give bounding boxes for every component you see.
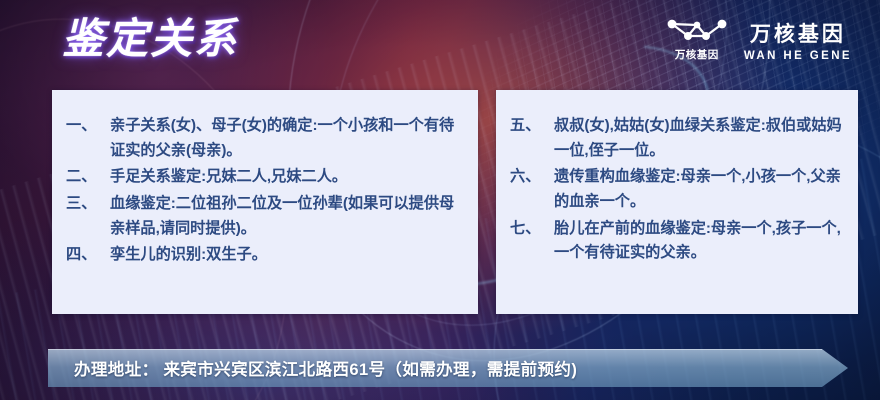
molecule-node-icon [664,18,730,44]
list-item-text: 孪生儿的识别:双生子。 [110,243,464,268]
brand-mark-label: 万核基因 [675,47,719,62]
list-item-number: 四、 [66,243,110,268]
panel-right: 五、 叔叔(女),姑姑(女)血绿关系鉴定:叔伯或姑妈一位,侄子一位。 六、 遗传… [496,90,858,314]
list-item-number: 七、 [510,217,554,242]
list-item: 五、 叔叔(女),姑姑(女)血绿关系鉴定:叔伯或姑妈一位,侄子一位。 [510,114,844,163]
list-item-text: 手足关系鉴定:兄妹二人,兄妹二人。 [110,165,464,190]
list-item: 二、 手足关系鉴定:兄妹二人,兄妹二人。 [66,165,464,190]
list-item-text: 叔叔(女),姑姑(女)血绿关系鉴定:叔伯或姑妈一位,侄子一位。 [554,114,844,163]
list-item-number: 六、 [510,165,554,190]
list-item-text: 血缘鉴定:二位祖孙二位及一位孙辈(如果可以提供母亲样品,请同时提供)。 [110,192,464,241]
list-item-text: 遗传重构血缘鉴定:母亲一个,小孩一个,父亲的血亲一个。 [554,165,844,214]
brand-name-cn: 万核基因 [750,18,846,48]
list-item: 一、 亲子关系(女)、母子(女)的确定:一个小孩和一个有待证实的父亲(母亲)。 [66,114,464,163]
address-banner-arrow [822,349,848,387]
brand-wordmark: 万核基因 WAN HE GENE [744,18,852,62]
list-item: 六、 遗传重构血缘鉴定:母亲一个,小孩一个,父亲的血亲一个。 [510,165,844,214]
brand-logo: 万核基因 万核基因 WAN HE GENE [664,18,852,62]
brand-mark: 万核基因 [664,18,730,62]
list-item: 七、 胎儿在产前的血缘鉴定:母亲一个,孩子一个,一个有待证实的父亲。 [510,217,844,266]
list-item: 四、 孪生儿的识别:双生子。 [66,243,464,268]
page-title: 鉴定关系 [62,16,238,61]
content-panels: 一、 亲子关系(女)、母子(女)的确定:一个小孩和一个有待证实的父亲(母亲)。 … [52,90,858,314]
address-text: 办理地址： 来宾市兴宾区滨江北路西61号（如需办理，需提前预约) [74,356,577,380]
list-item-number: 五、 [510,114,554,139]
list-item-number: 三、 [66,192,110,217]
address-banner-body: 办理地址： 来宾市兴宾区滨江北路西61号（如需办理，需提前预约) [48,349,822,387]
address-banner: 办理地址： 来宾市兴宾区滨江北路西61号（如需办理，需提前预约) [48,349,848,387]
panel-left: 一、 亲子关系(女)、母子(女)的确定:一个小孩和一个有待证实的父亲(母亲)。 … [52,90,478,314]
list-item-text: 亲子关系(女)、母子(女)的确定:一个小孩和一个有待证实的父亲(母亲)。 [110,114,464,163]
brand-name-en: WAN HE GENE [744,50,852,62]
list-item: 三、 血缘鉴定:二位祖孙二位及一位孙辈(如果可以提供母亲样品,请同时提供)。 [66,192,464,241]
list-item-text: 胎儿在产前的血缘鉴定:母亲一个,孩子一个,一个有待证实的父亲。 [554,217,844,266]
list-item-number: 二、 [66,165,110,190]
list-item-number: 一、 [66,114,110,139]
poster-canvas: 鉴定关系 [0,0,880,400]
